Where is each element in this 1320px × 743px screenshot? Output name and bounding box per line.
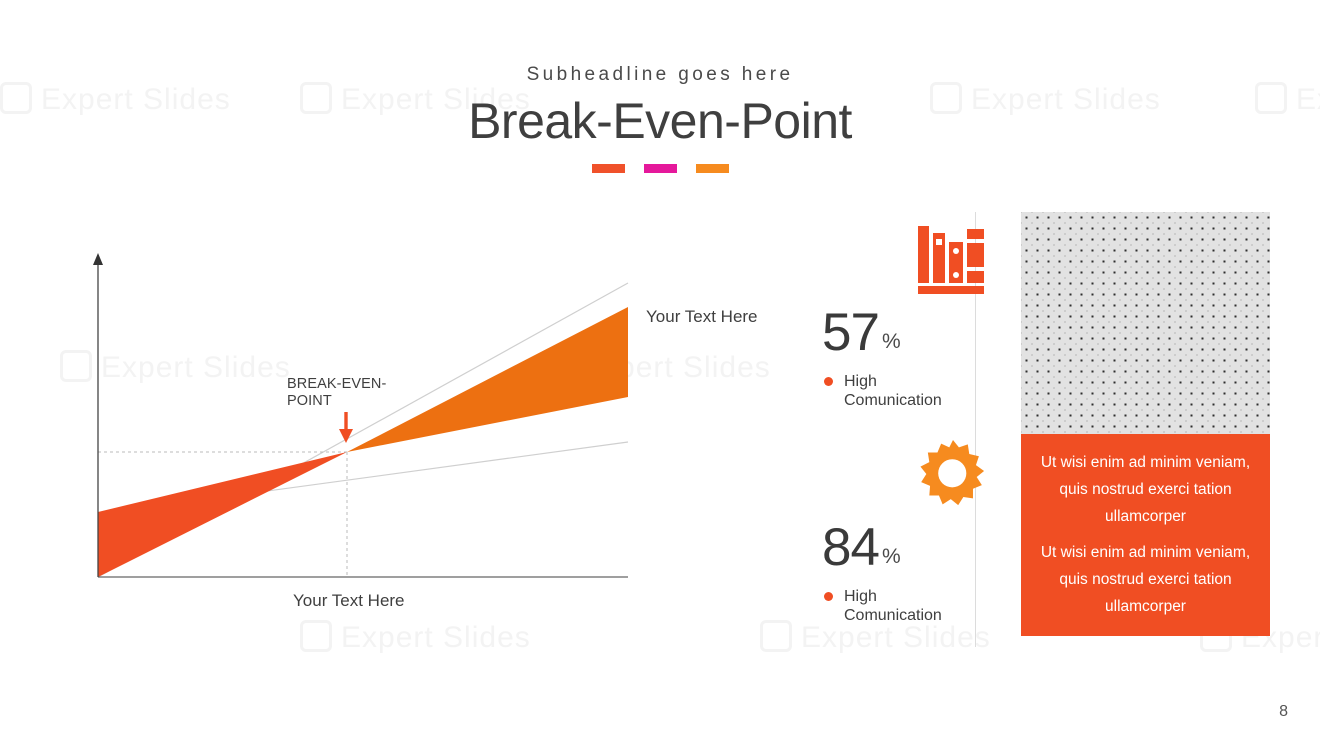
subheadline: Subheadline goes here bbox=[0, 64, 1320, 86]
chart-svg bbox=[70, 245, 810, 635]
chart-series-label-right: Your Text Here bbox=[646, 307, 758, 327]
dash-red bbox=[592, 164, 625, 173]
stat-unit: % bbox=[882, 330, 901, 353]
page-title: Break-Even-Point bbox=[0, 92, 1320, 150]
stat-number: 57 bbox=[822, 303, 879, 362]
card-paragraph: Ut wisi enim ad minim veniam, quis nostr… bbox=[1033, 449, 1258, 530]
bullet-icon bbox=[824, 592, 833, 601]
stat-value-57: 57% bbox=[822, 306, 901, 368]
books-icon bbox=[916, 220, 990, 298]
stats-column: 57% High Comunication 84% High Comunicat… bbox=[820, 210, 990, 640]
stat-caption-row: High Comunication bbox=[824, 587, 964, 625]
card-paragraph: Ut wisi enim ad minim veniam, quis nostr… bbox=[1033, 539, 1258, 620]
stat-caption: High Comunication bbox=[844, 587, 964, 625]
text-card: Ut wisi enim ad minim veniam, quis nostr… bbox=[1021, 434, 1270, 636]
loss-area bbox=[98, 452, 347, 577]
break-even-point-label: BREAK-EVEN- POINT bbox=[287, 376, 407, 410]
chart-x-axis-label: Your Text Here bbox=[293, 591, 405, 611]
stat-caption: High Comunication bbox=[844, 372, 964, 410]
gear-icon bbox=[916, 435, 990, 513]
stat-number: 84 bbox=[822, 518, 879, 577]
stat-caption-row: High Comunication bbox=[824, 372, 964, 410]
break-even-label-line2: POINT bbox=[287, 393, 332, 409]
break-even-chart: BREAK-EVEN- POINT Your Text Here Your Te… bbox=[70, 245, 810, 635]
divider-dashes bbox=[0, 164, 1320, 173]
image-placeholder bbox=[1021, 212, 1270, 434]
y-axis-arrowhead bbox=[93, 253, 103, 265]
break-even-arrow bbox=[339, 412, 353, 443]
dash-orange bbox=[696, 164, 729, 173]
right-panel: Ut wisi enim ad minim veniam, quis nostr… bbox=[1021, 212, 1270, 636]
bullet-icon bbox=[824, 377, 833, 386]
stat-value-84: 84% bbox=[822, 521, 901, 583]
dash-magenta bbox=[644, 164, 677, 173]
break-even-label-line1: BREAK-EVEN- bbox=[287, 376, 386, 392]
stat-unit: % bbox=[882, 545, 901, 568]
page-number: 8 bbox=[1279, 703, 1288, 721]
slide-header: Subheadline goes here Break-Even-Point bbox=[0, 64, 1320, 173]
